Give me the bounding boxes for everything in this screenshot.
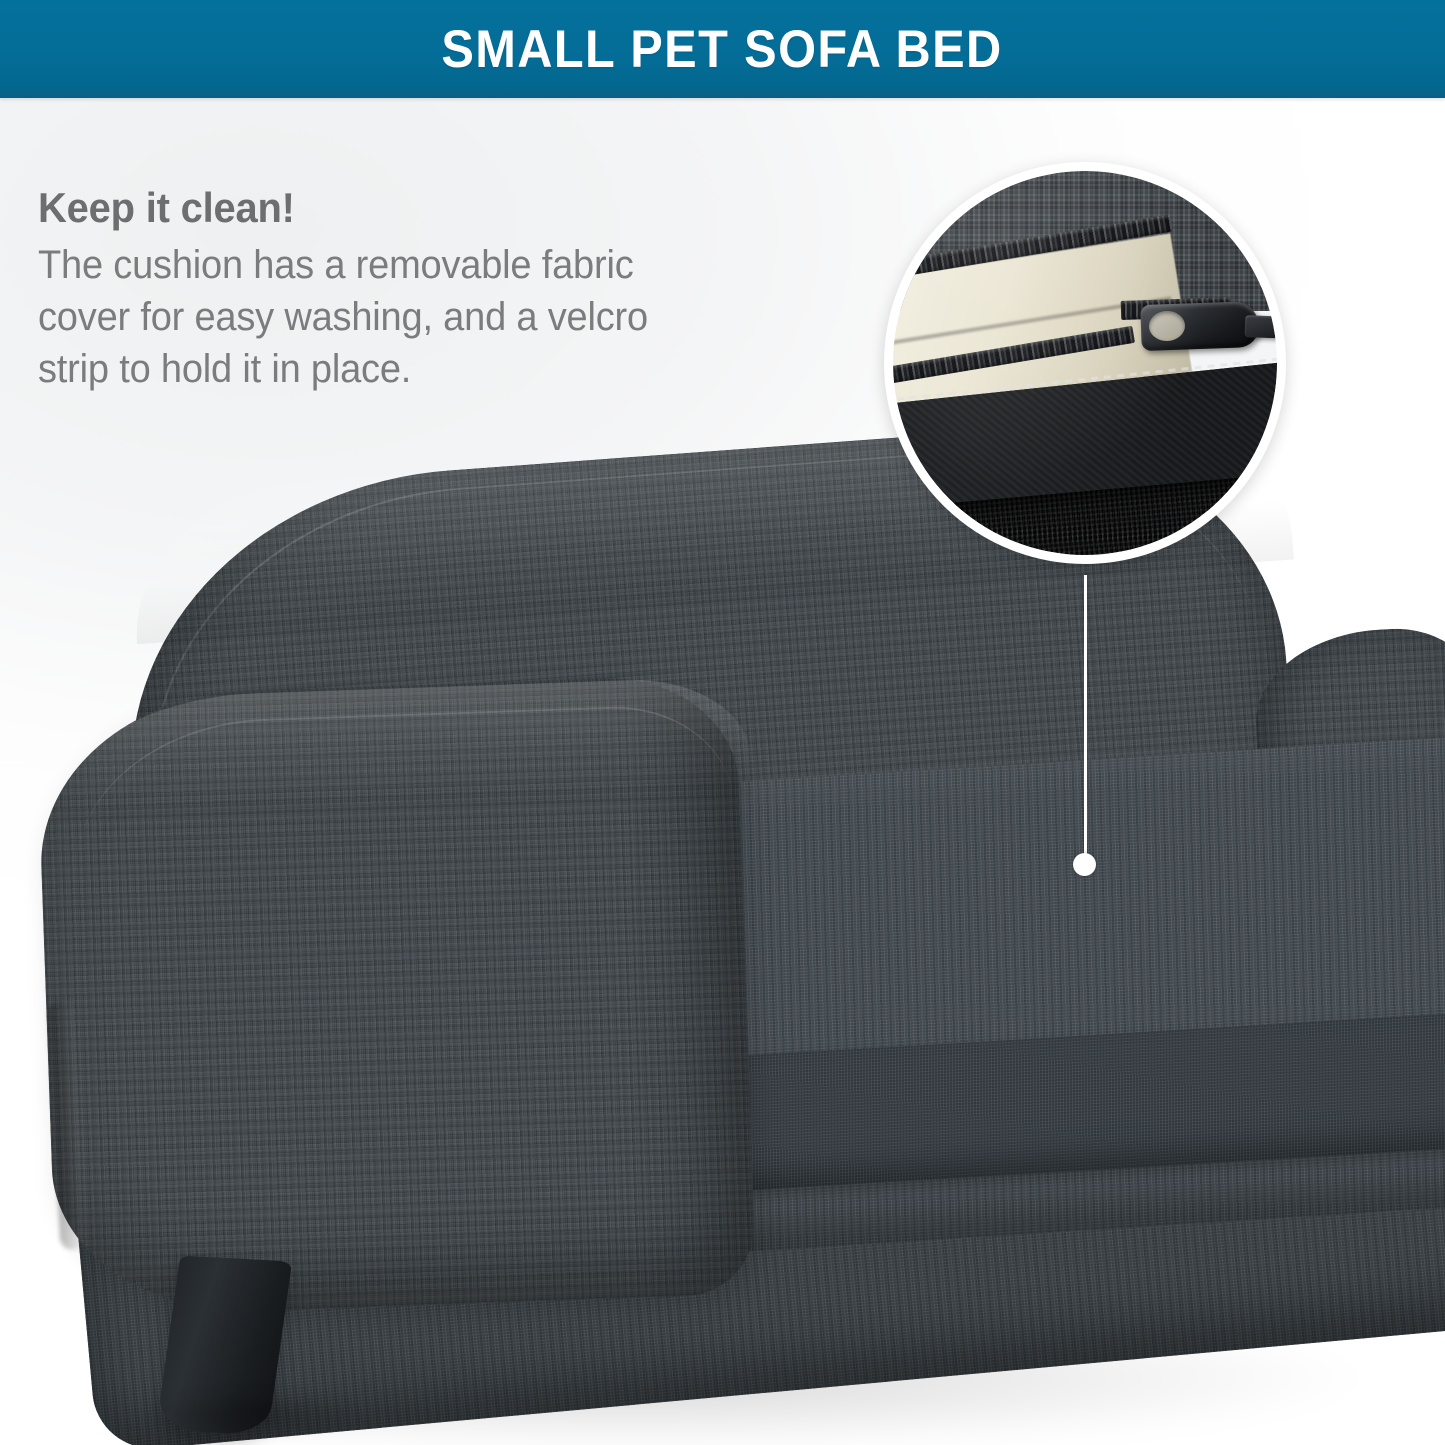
page-title: SMALL PET SOFA BED xyxy=(442,19,1003,80)
zipper-pull-tab xyxy=(1245,315,1277,339)
copy-body-text: The cushion has a removable fabric cover… xyxy=(38,239,798,395)
callout-pointer-dot xyxy=(1073,853,1096,876)
sofa-leg-shadow xyxy=(150,1392,360,1436)
callout-leader-line xyxy=(1084,575,1087,865)
copy-heading: Keep it clean! xyxy=(38,186,798,231)
feature-copy-block: Keep it clean! The cushion has a removab… xyxy=(38,186,838,395)
product-feature-image: SMALL PET SOFA BED Keep it clean! The cu… xyxy=(0,0,1445,1445)
detail-callout-circle xyxy=(884,162,1286,564)
detail-callout-content xyxy=(893,171,1277,555)
header-banner: SMALL PET SOFA BED xyxy=(0,0,1445,98)
sofa-left-armrest xyxy=(35,674,756,1318)
